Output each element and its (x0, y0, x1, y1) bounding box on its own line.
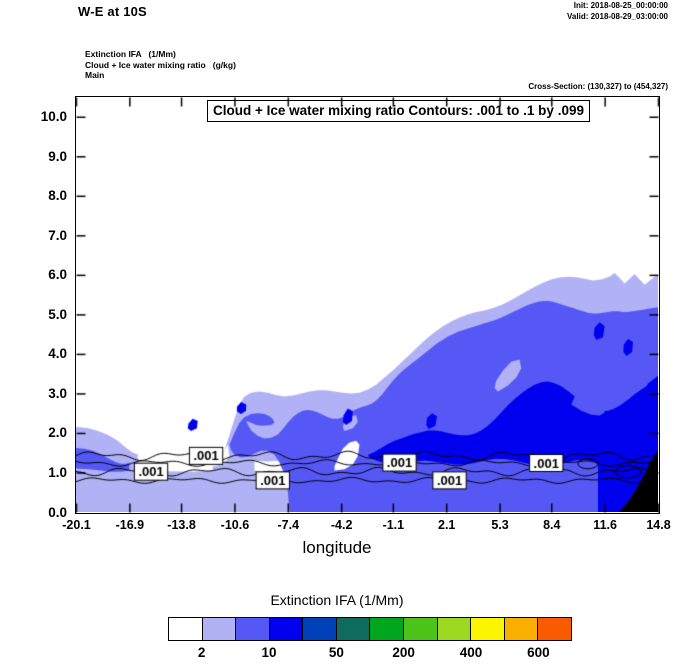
colorbar-cell (370, 618, 404, 640)
x-tick-label: -7.4 (278, 518, 300, 532)
y-tick-label: 7.0 (48, 228, 67, 243)
cross-section-label: Cross-Section: (130,327) to (454,327) (528, 82, 668, 91)
colorbar-cell (203, 618, 237, 640)
y-tick-label: 2.0 (48, 425, 67, 440)
cross-section-plot (75, 96, 660, 514)
colorbar-tick-label: 600 (527, 645, 550, 660)
colorbar-title: Extinction IFA (1/Mm) (0, 592, 674, 608)
colorbar-cell (236, 618, 270, 640)
plot-field-canvas (76, 97, 658, 512)
colorbar (168, 617, 572, 641)
y-tick-label: 10.0 (41, 109, 67, 124)
colorbar-tick-label: 2 (198, 645, 206, 660)
y-tick-label: 4.0 (48, 346, 67, 361)
colorbar-cell (270, 618, 304, 640)
contour-title-box: Cloud + Ice water mixing ratio Contours:… (207, 100, 590, 122)
y-tick-label: 5.0 (48, 307, 67, 322)
colorbar-cell (404, 618, 438, 640)
y-tick-label: 8.0 (48, 188, 67, 203)
colorbar-cell (303, 618, 337, 640)
x-tick-label: 8.4 (543, 518, 560, 532)
colorbar-cell (438, 618, 472, 640)
field-description-block: Extinction IFA (1/Mm) Cloud + Ice water … (85, 49, 236, 81)
colorbar-cell (471, 618, 505, 640)
x-axis-title: longitude (0, 538, 674, 558)
page-title: W-E at 10S (78, 4, 147, 19)
colorbar-cell (538, 618, 571, 640)
x-tick-label: -4.2 (331, 518, 353, 532)
y-tick-label: 6.0 (48, 267, 67, 282)
x-tick-label: 2.1 (438, 518, 455, 532)
y-tick-label: 3.0 (48, 386, 67, 401)
x-tick-label: -20.1 (62, 518, 91, 532)
y-tick-label: 9.0 (48, 149, 67, 164)
colorbar-tick-label: 50 (329, 645, 344, 660)
colorbar-tick-label: 10 (261, 645, 276, 660)
x-tick-label: -13.8 (167, 518, 196, 532)
init-time-label: Init: 2018-08-25_00:00:00 (567, 1, 668, 12)
colorbar-tick-label: 400 (460, 645, 483, 660)
model-time-block: Init: 2018-08-25_00:00:00 Valid: 2018-08… (567, 1, 668, 22)
colorbar-cell (337, 618, 371, 640)
x-tick-label: -1.1 (383, 518, 405, 532)
colorbar-cell (169, 618, 203, 640)
x-tick-label: 5.3 (491, 518, 508, 532)
x-tick-label: -10.6 (221, 518, 250, 532)
x-tick-label: 11.6 (593, 518, 617, 532)
y-tick-label: 1.0 (48, 465, 67, 480)
x-tick-label: -16.9 (116, 518, 145, 532)
colorbar-tick-label: 200 (392, 645, 415, 660)
colorbar-cell (505, 618, 539, 640)
valid-time-label: Valid: 2018-08-29_03:00:00 (567, 12, 668, 23)
x-tick-label: 14.8 (646, 518, 670, 532)
